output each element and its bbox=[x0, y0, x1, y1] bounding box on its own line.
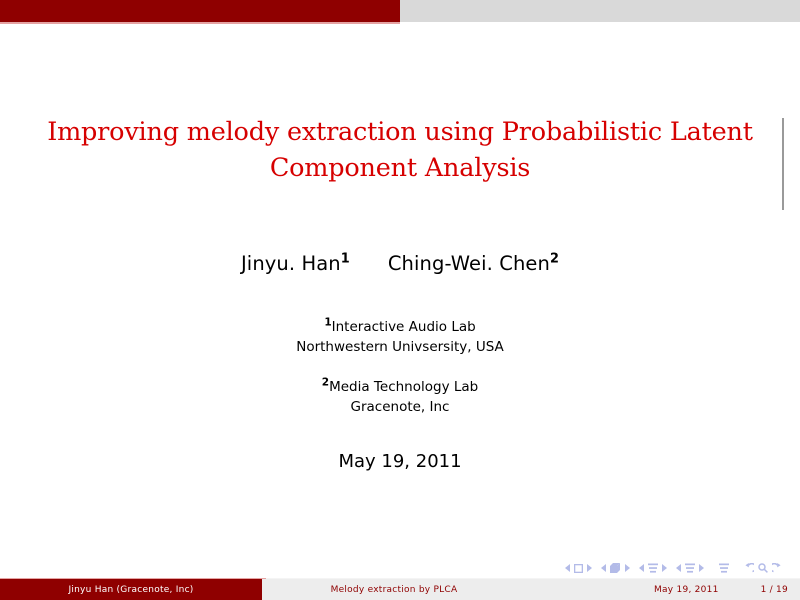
slide-header-bar bbox=[0, 0, 800, 22]
affiliation-line: 1Interactive Audio Lab bbox=[0, 318, 800, 338]
author-name: Jinyu. Han bbox=[241, 252, 341, 275]
author-entry: Ching-Wei. Chen2 bbox=[388, 252, 559, 275]
prev-slide-icon[interactable] bbox=[565, 564, 571, 572]
toc-icon[interactable] bbox=[719, 563, 729, 573]
back-icon[interactable] bbox=[744, 563, 754, 573]
author-affiliation-marker: 2 bbox=[550, 252, 559, 267]
subsection-icon[interactable] bbox=[648, 563, 658, 573]
slide-date: May 19, 2011 bbox=[0, 451, 800, 472]
header-underline bbox=[0, 22, 400, 24]
slide-icon[interactable] bbox=[574, 564, 583, 573]
header-bar-secondary bbox=[400, 0, 800, 22]
author-entry: Jinyu. Han1 bbox=[241, 252, 350, 275]
beamer-navigation-bar[interactable] bbox=[565, 563, 782, 573]
section-icon[interactable] bbox=[685, 563, 695, 573]
footer-date: May 19, 2011 bbox=[654, 585, 719, 595]
footer-meta: May 19, 2011 1 / 19 bbox=[526, 579, 800, 600]
slide-title: Improving melody extraction using Probab… bbox=[35, 114, 765, 186]
title-block: Improving melody extraction using Probab… bbox=[0, 114, 800, 186]
author-affiliation-marker: 1 bbox=[341, 252, 350, 267]
affiliation-marker: 2 bbox=[322, 377, 329, 389]
affiliation-lab: Media Technology Lab bbox=[329, 379, 478, 395]
history-navigation-group[interactable] bbox=[744, 563, 782, 573]
affiliation-institution: Northwestern Univsersity, USA bbox=[0, 338, 800, 358]
footer-short-title: Melody extraction by PLCA bbox=[262, 579, 526, 600]
next-section-icon[interactable] bbox=[698, 564, 704, 572]
next-subsection-icon[interactable] bbox=[661, 564, 667, 572]
affiliation-block: 1Interactive Audio Lab Northwestern Univ… bbox=[0, 318, 800, 358]
frame-navigation-group[interactable] bbox=[601, 563, 630, 573]
presentation-slide: Improving melody extraction using Probab… bbox=[0, 0, 800, 600]
subsection-navigation-group[interactable] bbox=[639, 563, 667, 573]
frame-icon[interactable] bbox=[610, 563, 621, 573]
section-navigation-group[interactable] bbox=[676, 563, 704, 573]
affiliation-marker: 1 bbox=[324, 317, 331, 329]
document-navigation-group[interactable] bbox=[719, 563, 729, 573]
author-name: Ching-Wei. Chen bbox=[388, 252, 550, 275]
footer-page-number: 1 / 19 bbox=[761, 585, 788, 595]
affiliation-block: 2Media Technology Lab Gracenote, Inc bbox=[0, 378, 800, 418]
forward-icon[interactable] bbox=[772, 563, 782, 573]
prev-frame-icon[interactable] bbox=[601, 564, 607, 572]
affiliation-lab: Interactive Audio Lab bbox=[332, 319, 476, 335]
prev-section-icon[interactable] bbox=[676, 564, 682, 572]
prev-subsection-icon[interactable] bbox=[639, 564, 645, 572]
affiliation-institution: Gracenote, Inc bbox=[0, 398, 800, 418]
slide-navigation-group[interactable] bbox=[565, 564, 592, 573]
author-list: Jinyu. Han1Ching-Wei. Chen2 bbox=[0, 252, 800, 275]
next-slide-icon[interactable] bbox=[586, 564, 592, 572]
footer-author: Jinyu Han (Gracenote, Inc) bbox=[0, 579, 262, 600]
next-frame-icon[interactable] bbox=[624, 564, 630, 572]
slide-footer-bar: Jinyu Han (Gracenote, Inc) Melody extrac… bbox=[0, 579, 800, 600]
header-bar-primary bbox=[0, 0, 400, 22]
affiliation-line: 2Media Technology Lab bbox=[0, 378, 800, 398]
search-icon[interactable] bbox=[758, 563, 768, 573]
